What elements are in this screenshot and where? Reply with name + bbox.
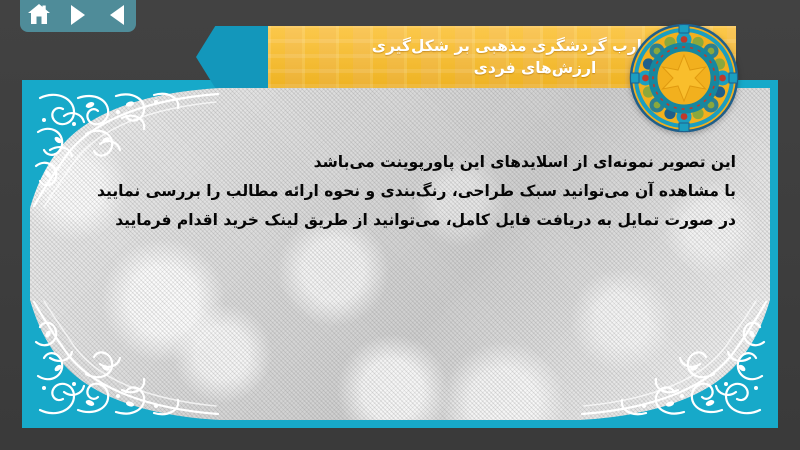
arabesque-corner-bottom-left-icon (30, 300, 220, 420)
title-line-2: ارزش‌های فردی (474, 57, 597, 79)
body-line-1: این تصویر نمونه‌ای از اسلایدهای این پاور… (90, 148, 736, 177)
arrow-left-icon (110, 5, 124, 25)
arrow-right-icon (71, 5, 85, 25)
slide-stage: تأثیر تجارب گردشگری مذهبی بر شکل‌گیری ار… (0, 0, 800, 450)
navigation-toolbar (20, 0, 136, 32)
previous-slide-button[interactable] (102, 2, 132, 28)
body-line-3: در صورت تمایل به دریافت فایل کامل، می‌تو… (90, 206, 736, 235)
slide-content-surface: این تصویر نمونه‌ای از اسلایدهای این پاور… (30, 88, 770, 420)
persian-medallion-ornament (628, 22, 740, 134)
arabesque-corner-bottom-right-icon (580, 300, 770, 420)
home-button[interactable] (24, 2, 54, 28)
slide-body-text: این تصویر نمونه‌ای از اسلایدهای این پاور… (90, 148, 736, 234)
home-icon (26, 3, 52, 27)
next-slide-button[interactable] (63, 2, 93, 28)
body-line-2: با مشاهده آن می‌توانید سبک طراحی، رنگ‌بن… (90, 177, 736, 206)
